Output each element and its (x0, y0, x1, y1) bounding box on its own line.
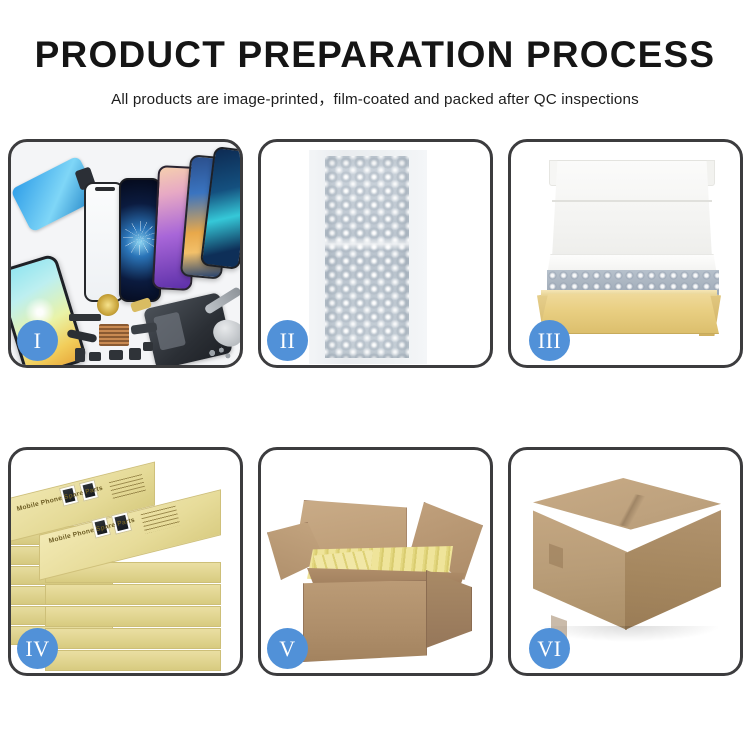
header: PRODUCT PREPARATION PROCESS All products… (0, 0, 750, 109)
page-subtitle: All products are image-printed，film-coat… (0, 87, 750, 109)
logic-board-part (99, 324, 129, 346)
step-badge-5: V (267, 628, 308, 669)
carton-body-front (303, 580, 427, 662)
screws-group (207, 346, 233, 360)
wrap-highlight (325, 238, 409, 250)
process-steps-grid: I II III (8, 139, 742, 676)
stacked-box-edge (45, 628, 221, 649)
box-lid-crease (552, 200, 712, 202)
step-card-2-bubble-wrap[interactable]: II (258, 139, 493, 368)
tempered-glass-protector (84, 182, 124, 302)
step-badge-6: VI (529, 628, 570, 669)
step-card-1-products[interactable]: I (8, 139, 243, 368)
small-component-5 (143, 342, 153, 351)
step-badge-4: IV (17, 628, 58, 669)
step-card-4-labelled-boxes[interactable]: Mobile Phone Spare Parts Mobile Phone Sp… (8, 447, 243, 676)
bubble-wrap-sheet (325, 156, 409, 358)
small-component-4 (89, 352, 101, 361)
step-badge-3: III (529, 320, 570, 361)
step-badge-1: I (17, 320, 58, 361)
wireless-coil-part (97, 294, 119, 316)
small-component-3 (75, 348, 85, 362)
step-card-6-sealed-carton[interactable]: VI (508, 447, 743, 676)
page-title: PRODUCT PREPARATION PROCESS (0, 36, 750, 73)
stacked-box-edge (45, 584, 221, 605)
small-component-2 (129, 348, 141, 360)
step-badge-2: II (267, 320, 308, 361)
carton-body-right (426, 570, 472, 648)
battery-part (69, 314, 101, 321)
product-preparation-infographic: PRODUCT PREPARATION PROCESS All products… (0, 0, 750, 750)
step-card-3-inner-box[interactable]: III (508, 139, 743, 368)
stacked-box-edge (45, 650, 221, 671)
small-component-1 (109, 350, 123, 360)
step-card-5-carton-loading[interactable]: V (258, 447, 493, 676)
stacked-box-edge (45, 606, 221, 627)
sealed-carton-left-face (533, 508, 627, 630)
